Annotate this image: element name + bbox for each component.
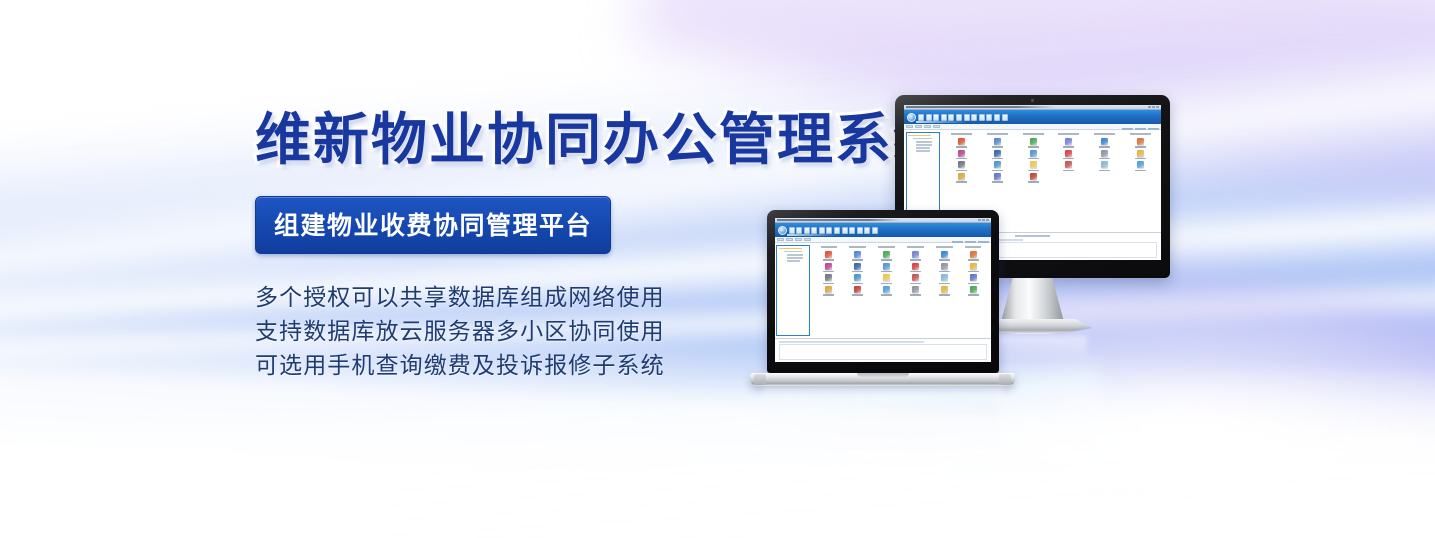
- module-icon[interactable]: [1052, 150, 1086, 160]
- module-icon-label: [910, 271, 921, 273]
- module-icon-label: [852, 294, 863, 296]
- module-icon-label: [852, 271, 863, 273]
- module-icon[interactable]: [931, 286, 958, 296]
- app-header-toolbar[interactable]: [918, 114, 1008, 121]
- module-icon[interactable]: [844, 263, 871, 273]
- module-icon-glyph: [825, 274, 832, 281]
- module-icon-label: [992, 146, 1003, 148]
- module-icon[interactable]: [960, 286, 987, 296]
- module-icon-glyph: [941, 286, 948, 293]
- module-icon[interactable]: [931, 263, 958, 273]
- module-icon-label: [881, 259, 892, 261]
- module-icon-label: [1135, 158, 1146, 160]
- toolbar-icon[interactable]: [948, 114, 954, 121]
- module-icon-label: [956, 158, 967, 160]
- minimize-icon[interactable]: [978, 219, 981, 222]
- module-icon-label: [992, 158, 1003, 160]
- tree-item[interactable]: [784, 251, 803, 253]
- close-icon[interactable]: [1156, 106, 1159, 109]
- module-icon-label: [852, 259, 863, 261]
- toolbar-button[interactable]: [906, 125, 913, 128]
- module-icon-label: [1099, 146, 1110, 148]
- module-icon-label: [956, 170, 967, 172]
- device-mockups: [735, 95, 1205, 425]
- module-icon-glyph: [825, 286, 832, 293]
- module-icon-glyph: [883, 274, 890, 281]
- module-icon-glyph: [854, 251, 861, 258]
- module-icon-label: [823, 259, 834, 261]
- module-icon[interactable]: [1088, 138, 1122, 148]
- tree-item[interactable]: [916, 150, 930, 152]
- tree-item[interactable]: [787, 254, 803, 256]
- footer-title: [1015, 235, 1050, 237]
- module-icon-grid[interactable]: [941, 135, 1161, 186]
- app-header-toolbar[interactable]: [789, 227, 879, 234]
- module-icon-label: [881, 283, 892, 285]
- module-icon-label: [910, 259, 921, 261]
- laptop-base: [750, 373, 1015, 386]
- module-icon-glyph: [1030, 138, 1037, 145]
- toolbar-button[interactable]: [786, 238, 793, 241]
- header-action[interactable]: [952, 241, 963, 243]
- toolbar-icon[interactable]: [979, 114, 985, 121]
- module-icon-label: [852, 283, 863, 285]
- module-icon[interactable]: [816, 251, 843, 261]
- module-icon-glyph: [970, 274, 977, 281]
- module-icon-glyph: [1065, 161, 1072, 168]
- app-footer-panel: [775, 338, 991, 363]
- module-icon-glyph: [825, 263, 832, 270]
- toolbar-icon[interactable]: [956, 114, 962, 121]
- navigation-tree[interactable]: [776, 245, 810, 337]
- module-icon-label: [1135, 170, 1146, 172]
- laptop-lid: [767, 210, 999, 373]
- module-icon-glyph: [1101, 161, 1108, 168]
- module-icon[interactable]: [873, 251, 900, 261]
- footer-list: [779, 344, 987, 360]
- tree-item[interactable]: [787, 260, 801, 262]
- app-logo-icon: [778, 226, 787, 235]
- module-icon-label: [881, 294, 892, 296]
- module-icon-glyph: [1030, 173, 1037, 180]
- module-icon-label: [939, 259, 950, 261]
- module-icon-label: [1099, 158, 1110, 160]
- toolbar-icon[interactable]: [971, 114, 977, 121]
- module-icon-glyph: [970, 251, 977, 258]
- module-icon-label: [823, 294, 834, 296]
- tagline-badge: 组建物业收费协同管理平台: [255, 196, 611, 254]
- module-icon-label: [1135, 146, 1146, 148]
- module-icon-glyph: [883, 263, 890, 270]
- module-icon[interactable]: [873, 286, 900, 296]
- module-icon-label: [1063, 158, 1074, 160]
- module-icon[interactable]: [945, 150, 979, 160]
- module-icon-label: [881, 271, 892, 273]
- toolbar-button[interactable]: [804, 238, 811, 241]
- tree-item[interactable]: [916, 144, 932, 146]
- module-icon-glyph: [854, 274, 861, 281]
- module-icon-glyph: [994, 138, 1001, 145]
- tree-item[interactable]: [916, 147, 930, 149]
- module-icon-glyph: [854, 286, 861, 293]
- header-action[interactable]: [965, 241, 976, 243]
- toolbar-icon[interactable]: [789, 227, 795, 234]
- module-icon-glyph: [1137, 161, 1144, 168]
- toolbar-icon[interactable]: [933, 114, 939, 121]
- module-icon-glyph: [1030, 161, 1037, 168]
- module-icon[interactable]: [1088, 150, 1122, 160]
- module-icon[interactable]: [981, 161, 1015, 171]
- module-icon[interactable]: [1123, 138, 1157, 148]
- module-icon-label: [1028, 181, 1039, 183]
- app-logo-icon: [907, 113, 916, 122]
- header-action[interactable]: [1135, 128, 1146, 130]
- module-icon-glyph: [994, 161, 1001, 168]
- toolbar-button[interactable]: [795, 238, 802, 241]
- trackpad-notch: [857, 373, 909, 377]
- module-icon-label: [992, 181, 1003, 183]
- toolbar-icon[interactable]: [804, 227, 810, 234]
- module-icon-glyph: [854, 263, 861, 270]
- module-icon[interactable]: [1123, 150, 1157, 160]
- module-icon-label: [992, 170, 1003, 172]
- toolbar-icon[interactable]: [941, 114, 947, 121]
- module-icon-glyph: [1137, 150, 1144, 157]
- module-icon-label: [1063, 170, 1074, 172]
- module-icon[interactable]: [981, 150, 1015, 160]
- laptop-foot-right: [999, 374, 1011, 385]
- toolbar-button[interactable]: [915, 125, 922, 128]
- module-icon[interactable]: [960, 263, 987, 273]
- app-header-label: [787, 234, 839, 236]
- promo-banner: 维新物业协同办公管理系统 组建物业收费协同管理平台 多个授权可以共享数据库组成网…: [0, 0, 1435, 538]
- toolbar-icon[interactable]: [986, 114, 992, 121]
- header-action[interactable]: [978, 241, 989, 243]
- close-icon[interactable]: [986, 219, 989, 222]
- toolbar-icon[interactable]: [864, 227, 870, 234]
- toolbar-icon[interactable]: [926, 114, 932, 121]
- module-icon[interactable]: [902, 251, 929, 261]
- toolbar-icon[interactable]: [849, 227, 855, 234]
- app-title-text: [906, 106, 1147, 108]
- module-icon-glyph: [1137, 138, 1144, 145]
- module-icon-label: [910, 283, 921, 285]
- toolbar-button[interactable]: [777, 238, 784, 241]
- module-icon-glyph: [1030, 150, 1037, 157]
- app-main-panel: [812, 243, 991, 338]
- laptop-reflection: [763, 387, 1003, 409]
- module-icon-glyph: [912, 286, 919, 293]
- module-icon-label: [956, 181, 967, 183]
- module-icon[interactable]: [1016, 138, 1050, 148]
- toolbar-icon[interactable]: [872, 227, 878, 234]
- module-icon[interactable]: [1016, 150, 1050, 160]
- module-icon[interactable]: [816, 263, 843, 273]
- tree-item[interactable]: [908, 135, 931, 137]
- module-icon-label: [968, 259, 979, 261]
- module-icon[interactable]: [1052, 161, 1086, 171]
- module-icon-glyph: [912, 263, 919, 270]
- module-icon[interactable]: [945, 173, 979, 183]
- module-icon-label: [968, 283, 979, 285]
- header-action[interactable]: [1148, 128, 1159, 130]
- app-header: [775, 223, 991, 237]
- module-icon-glyph: [1101, 138, 1108, 145]
- header-action[interactable]: [1122, 128, 1133, 130]
- module-icon[interactable]: [1052, 138, 1086, 148]
- module-icon-glyph: [970, 286, 977, 293]
- module-icon-label: [1099, 170, 1110, 172]
- module-icon[interactable]: [981, 138, 1015, 148]
- maximize-icon[interactable]: [1152, 106, 1155, 109]
- toolbar-icon[interactable]: [811, 227, 817, 234]
- module-icon-label: [823, 271, 834, 273]
- toolbar-icon[interactable]: [819, 227, 825, 234]
- module-icon[interactable]: [1016, 173, 1050, 183]
- module-icon-label: [823, 283, 834, 285]
- toolbar-icon[interactable]: [918, 114, 924, 121]
- module-icon-label: [1063, 146, 1074, 148]
- module-icon[interactable]: [931, 251, 958, 261]
- footer-row: [779, 341, 925, 343]
- module-icon-glyph: [912, 274, 919, 281]
- module-icon[interactable]: [873, 263, 900, 273]
- module-icon[interactable]: [945, 138, 979, 148]
- toolbar-icon[interactable]: [796, 227, 802, 234]
- module-icon[interactable]: [902, 274, 929, 284]
- module-icon[interactable]: [945, 161, 979, 171]
- maximize-icon[interactable]: [982, 219, 985, 222]
- app-header-label: [916, 121, 968, 123]
- module-icon-glyph: [994, 173, 1001, 180]
- module-icon-glyph: [1101, 150, 1108, 157]
- module-icon-glyph: [912, 251, 919, 258]
- module-icon[interactable]: [960, 251, 987, 261]
- module-icon-label: [1028, 170, 1039, 172]
- webcam-icon: [1031, 99, 1034, 102]
- toolbar-button[interactable]: [933, 125, 940, 128]
- module-icon-glyph: [883, 286, 890, 293]
- module-icon[interactable]: [902, 263, 929, 273]
- module-icon[interactable]: [1088, 161, 1122, 171]
- laptop-screen: [775, 218, 991, 362]
- module-icon-label: [1028, 158, 1039, 160]
- module-icon-glyph: [941, 251, 948, 258]
- module-icon-glyph: [1065, 150, 1072, 157]
- toolbar-icon[interactable]: [964, 114, 970, 121]
- module-icon-label: [1028, 146, 1039, 148]
- tree-item[interactable]: [779, 248, 802, 250]
- module-icon[interactable]: [816, 274, 843, 284]
- module-icon-glyph: [941, 274, 948, 281]
- module-icon-label: [910, 294, 921, 296]
- toolbar-icon[interactable]: [1002, 114, 1008, 121]
- module-icon-glyph: [825, 251, 832, 258]
- app-body: [775, 243, 991, 338]
- module-icon[interactable]: [1123, 161, 1157, 171]
- module-icon[interactable]: [902, 286, 929, 296]
- toolbar-icon[interactable]: [834, 227, 840, 234]
- toolbar-icon[interactable]: [994, 114, 1000, 121]
- module-icon-glyph: [958, 150, 965, 157]
- module-icon-glyph: [958, 173, 965, 180]
- module-icon[interactable]: [960, 274, 987, 284]
- app-header: [904, 110, 1161, 124]
- module-icon[interactable]: [931, 274, 958, 284]
- module-icon-glyph: [958, 138, 965, 145]
- module-icon[interactable]: [1016, 161, 1050, 171]
- module-icon-label: [939, 271, 950, 273]
- tree-item[interactable]: [916, 141, 932, 143]
- toolbar-icon[interactable]: [826, 227, 832, 234]
- laptop-device: [750, 210, 1015, 409]
- module-icon[interactable]: [816, 286, 843, 296]
- module-icon[interactable]: [844, 251, 871, 261]
- toolbar-icon[interactable]: [842, 227, 848, 234]
- module-icon-glyph: [1065, 138, 1072, 145]
- module-icon-label: [939, 294, 950, 296]
- tree-item[interactable]: [913, 138, 932, 140]
- module-icon-label: [956, 146, 967, 148]
- app-title-text: [777, 219, 977, 221]
- toolbar-button[interactable]: [924, 125, 931, 128]
- module-icon[interactable]: [844, 286, 871, 296]
- app-header-actions[interactable]: [952, 241, 989, 243]
- module-icon-label: [968, 271, 979, 273]
- app-header-actions[interactable]: [1122, 128, 1159, 130]
- module-icon-label: [939, 283, 950, 285]
- module-icon-label: [968, 294, 979, 296]
- minimize-icon[interactable]: [1148, 106, 1151, 109]
- toolbar-icon[interactable]: [857, 227, 863, 234]
- module-icon-glyph: [994, 150, 1001, 157]
- module-icon[interactable]: [844, 274, 871, 284]
- module-icon-grid[interactable]: [812, 248, 991, 299]
- tree-item[interactable]: [787, 257, 803, 259]
- module-icon[interactable]: [873, 274, 900, 284]
- module-icon-glyph: [941, 263, 948, 270]
- module-icon-glyph: [970, 263, 977, 270]
- module-icon-glyph: [958, 161, 965, 168]
- module-icon-glyph: [883, 251, 890, 258]
- laptop-foot-left: [754, 374, 766, 385]
- module-icon[interactable]: [981, 173, 1015, 183]
- app-window-laptop: [775, 218, 991, 362]
